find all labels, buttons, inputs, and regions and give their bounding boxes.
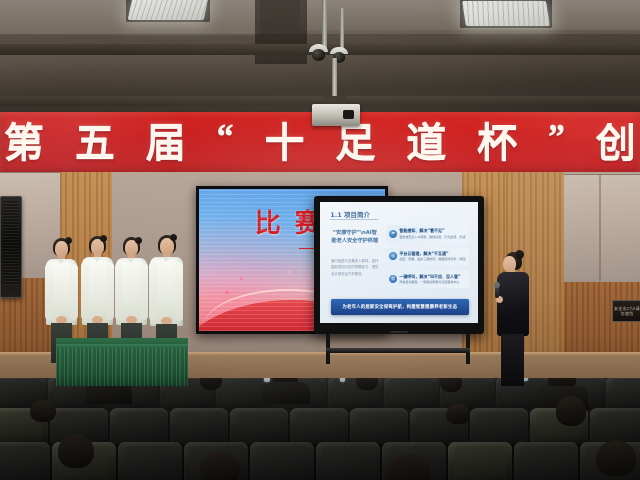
slide-title: 1.1 项目简介 <box>330 209 370 219</box>
banner-char-2: 五 <box>75 123 115 163</box>
audience-head <box>388 454 430 480</box>
banner-char-3: 届 <box>146 123 186 163</box>
light-louver <box>128 0 209 20</box>
slide-bullet-1: ☂智能感知、解决“看不见”毫米波雷达＋AI视觉，跌倒识别、行为监测、无感守护 <box>386 225 468 243</box>
banner-char-5: 十 <box>265 123 305 163</box>
audience-head <box>30 400 56 422</box>
collar <box>57 259 65 264</box>
bullet-subtext: 社区、家属、医护三端协同，数据实时同步，响应更高效 <box>399 257 465 261</box>
suit-jacket <box>497 272 529 336</box>
banner-char-6: 足 <box>335 123 375 163</box>
ceiling-projector <box>312 104 360 126</box>
arm-right <box>106 262 114 320</box>
seat[interactable] <box>470 408 528 444</box>
seat[interactable] <box>448 442 512 480</box>
audience-shoulders <box>262 382 310 404</box>
slide-lead-text: “安康守护”\nAI智能老人安全守护终端 <box>331 229 378 247</box>
hair-bun <box>65 237 72 244</box>
banner-char-1: 第 <box>4 123 44 163</box>
microphone-head <box>494 282 500 288</box>
arm-right <box>70 264 78 320</box>
slide-title-rule <box>330 219 377 220</box>
bullet-heading: 平台云管理，解决“不互通” <box>399 251 465 256</box>
banner-char-7: 道 <box>406 123 446 163</box>
collar <box>127 258 135 263</box>
presentation-monitor[interactable]: 1.1 项目简介 “安康守护”\nAI智能老人安全守护终端 面向独居与空巢老人群… <box>314 196 484 334</box>
umbrella-icon: ☂ <box>389 230 397 238</box>
arm-left <box>45 264 53 320</box>
phone-icon: ✆ <box>389 275 397 283</box>
camera-mount-pole-right <box>340 8 344 50</box>
seat[interactable] <box>0 442 50 480</box>
projector-drop-pole <box>332 58 337 98</box>
hair-bun <box>170 234 177 241</box>
seat[interactable] <box>316 442 380 480</box>
seat[interactable] <box>290 408 348 444</box>
hair-bun <box>135 237 142 244</box>
audience-head <box>440 378 462 392</box>
audience-head <box>200 452 240 480</box>
audience-head <box>596 440 636 476</box>
seat[interactable] <box>118 442 182 480</box>
slide-lead-line-1: “安康守护”\nAI智能老人安全守护终端 <box>331 229 378 247</box>
seat[interactable] <box>170 408 228 444</box>
dome-camera-left <box>309 44 328 61</box>
presenter <box>494 252 534 386</box>
arm-right <box>140 263 148 320</box>
wall-speaker-left <box>0 196 22 298</box>
slide-bullet-3: ✆一键呼叫，解决“叫不应、没人管”异常自动报警，一键联动家属与社区服务中心 <box>386 270 468 288</box>
audience-head <box>446 404 470 424</box>
light-louver <box>462 1 550 26</box>
auditorium-photo: 第五届“十足道杯”创 安全出口\n请勿遮挡 <box>0 0 640 480</box>
monitor-brand-strip <box>390 331 408 333</box>
projector-mount-bracket <box>324 96 346 104</box>
monitor-screen: 1.1 项目简介 “安康守护”\nAI智能老人安全守护终端 面向独居与空巢老人群… <box>320 202 478 323</box>
exit-sign-text: 安全出口\n请勿遮挡 <box>613 306 640 317</box>
bullet-subtext: 异常自动报警，一键联动家属与社区服务中心 <box>399 280 465 284</box>
ceiling-light-left <box>128 0 209 20</box>
bullet-heading: 智能感知、解决“看不见” <box>399 228 465 233</box>
monitor-stand-crossbar <box>326 348 470 353</box>
projector-lens <box>343 110 354 119</box>
seat[interactable] <box>110 408 168 444</box>
arm-left <box>149 262 157 321</box>
trousers <box>501 334 524 386</box>
seat[interactable] <box>230 408 288 444</box>
wall-panel-right-a <box>560 174 600 282</box>
seat[interactable] <box>250 442 314 480</box>
speaker-grille <box>3 201 20 285</box>
exit-sign-plaque: 安全出口\n请勿遮挡 <box>612 300 640 322</box>
banner-char-4: “ <box>217 120 234 154</box>
hair-bun <box>100 235 107 242</box>
seat[interactable] <box>350 408 408 444</box>
slide-footer-banner: 为老年人的居家安全保驾护航，构建智慧健康养老新生态 <box>331 299 468 315</box>
collar <box>162 257 170 262</box>
arm-left <box>81 262 89 320</box>
collar <box>93 257 101 262</box>
water-bottle <box>340 378 345 382</box>
ceiling-light-right <box>462 1 550 26</box>
audience-seating <box>0 378 640 480</box>
ceiling <box>0 0 640 120</box>
audience-head <box>58 434 94 468</box>
bullet-heading: 一键呼叫，解决“叫不应、没人管” <box>399 274 465 279</box>
slide-bullet-list: ☂智能感知、解决“看不见”毫米波雷达＋AI视觉，跌倒识别、行为监测、无感守护◎平… <box>386 225 468 293</box>
target-icon: ◎ <box>389 252 397 260</box>
seat[interactable] <box>606 378 640 408</box>
water-bottle <box>264 378 270 382</box>
arm-left <box>115 263 123 320</box>
hair-bun <box>515 250 524 259</box>
wall-panel-right-b <box>600 174 640 282</box>
seat[interactable] <box>384 378 438 408</box>
bullet-subtext: 毫米波雷达＋AI视觉，跌倒识别、行为监测、无感守护 <box>399 235 465 239</box>
banner-char-9: ” <box>548 120 565 154</box>
seat[interactable] <box>590 408 640 444</box>
banner-char-8: 杯 <box>477 123 517 163</box>
slide-bullet-2: ◎平台云管理，解决“不互通”社区、家属、医护三端协同，数据实时同步，响应更高效 <box>386 248 468 266</box>
slide-footer-banner-text: 为老年人的居家安全保驾护航，构建智慧健康养老新生态 <box>342 304 457 310</box>
arm-right <box>175 262 183 321</box>
slide-body-text: 面向独居与空巢老人群体，依托智能感知与实时预警能力，提供全天候安全守护服务。 <box>331 258 380 277</box>
seat[interactable] <box>514 442 578 480</box>
dome-camera-lens <box>312 49 326 61</box>
audience-head <box>556 396 586 426</box>
banner-char-10: 创 <box>596 123 636 163</box>
judges-table-skirt <box>56 348 188 386</box>
